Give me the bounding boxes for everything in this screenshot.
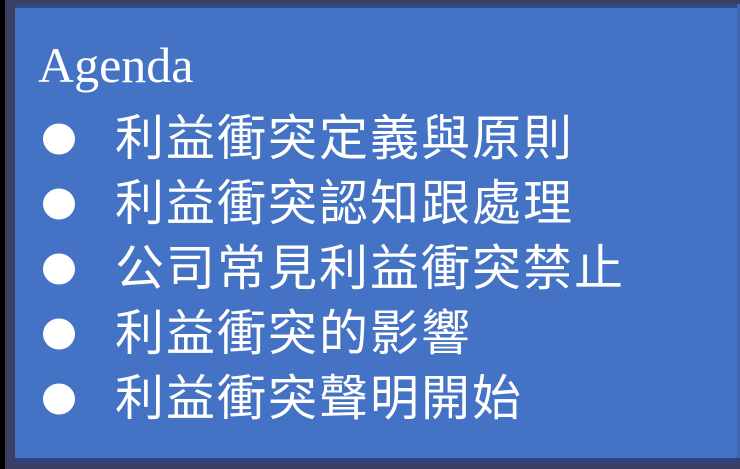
list-item[interactable]: 利益衝突定義與原則 [15, 106, 740, 171]
bullet-circle-icon [43, 188, 75, 219]
list-item-label: 利益衝突聲明開始 [115, 371, 523, 427]
list-item-label: 利益衝突定義與原則 [115, 111, 574, 167]
list-item-label: 利益衝突的影響 [115, 306, 472, 362]
page-title: Agenda [38, 38, 194, 92]
list-item[interactable]: 利益衝突認知跟處理 [15, 171, 740, 236]
bullet-circle-icon [43, 383, 75, 414]
list-item-label: 利益衝突認知跟處理 [115, 176, 574, 232]
agenda-list: 利益衝突定義與原則 利益衝突認知跟處理 公司常見利益衝突禁止 利益衝突的影響 利 [15, 106, 740, 431]
slide-border: Agenda 利益衝突定義與原則 利益衝突認知跟處理 公司常見利益衝突禁止 利益… [5, 0, 740, 469]
bullet-circle-icon [43, 253, 75, 284]
bullet-circle-icon [43, 123, 75, 154]
list-item[interactable]: 利益衝突聲明開始 [15, 366, 740, 431]
list-item[interactable]: 公司常見利益衝突禁止 [15, 236, 740, 301]
presentation-page: Agenda 利益衝突定義與原則 利益衝突認知跟處理 公司常見利益衝突禁止 利益… [0, 0, 740, 469]
list-item[interactable]: 利益衝突的影響 [15, 301, 740, 366]
slide-top-edge-band [15, 4, 740, 8]
slide-bottom-edge-band [15, 458, 740, 463]
list-item-label: 公司常見利益衝突禁止 [115, 241, 625, 297]
bullet-circle-icon [43, 318, 75, 349]
slide-body: Agenda 利益衝突定義與原則 利益衝突認知跟處理 公司常見利益衝突禁止 利益… [15, 4, 740, 463]
